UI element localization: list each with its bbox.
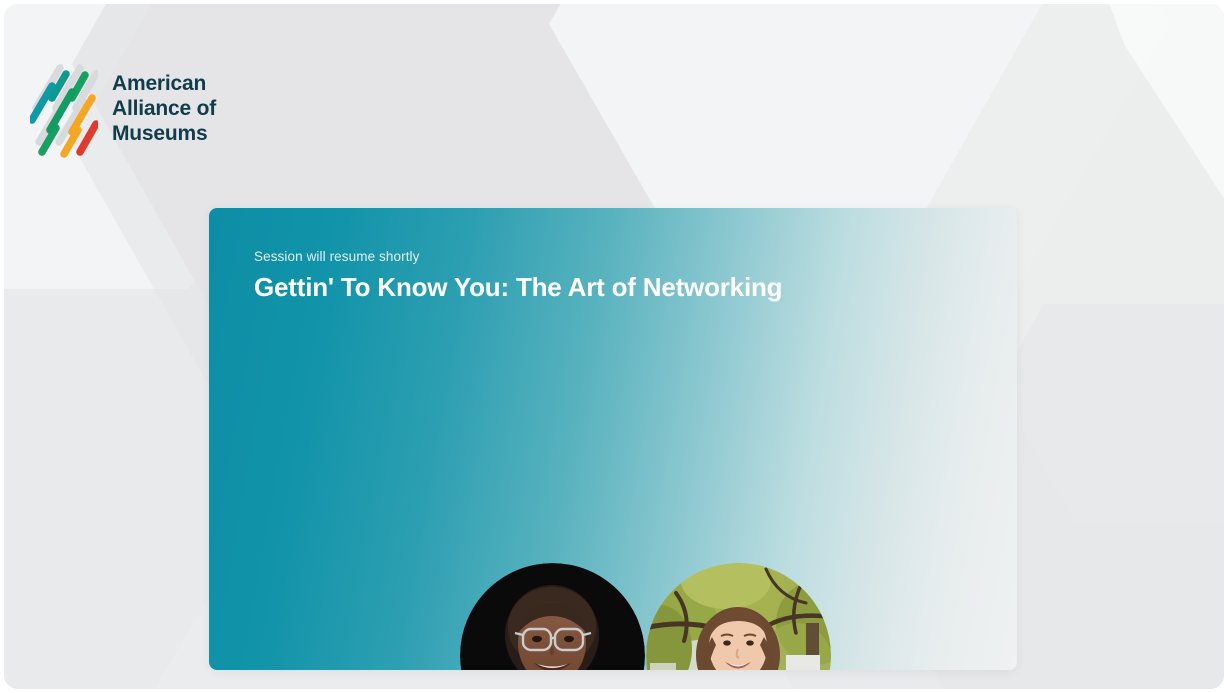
aam-logo: American Alliance of Museums [30, 56, 216, 160]
speaker-card: Cecelia Walls Assistant Director, Learni… [645, 563, 831, 670]
speaker-photo-cecelia-walls [646, 563, 831, 670]
slide-screen: American Alliance of Museums Session wil… [4, 4, 1224, 689]
speaker-card: Jacqueline Hudson Public Historian [459, 563, 645, 670]
session-header: Session will resume shortly Gettin' To K… [254, 249, 954, 303]
session-status-text: Session will resume shortly [254, 249, 954, 264]
session-title: Gettin' To Know You: The Art of Networki… [254, 272, 954, 303]
aam-logo-mark-icon [30, 56, 98, 160]
presentation-stage: American Alliance of Museums Session wil… [0, 0, 1228, 693]
aam-wordmark: American Alliance of Museums [112, 71, 216, 146]
session-card: Session will resume shortly Gettin' To K… [209, 208, 1017, 670]
speaker-photo-jacqueline-hudson [460, 563, 645, 670]
speaker-list: Jacqueline Hudson Public Historian [459, 563, 831, 670]
